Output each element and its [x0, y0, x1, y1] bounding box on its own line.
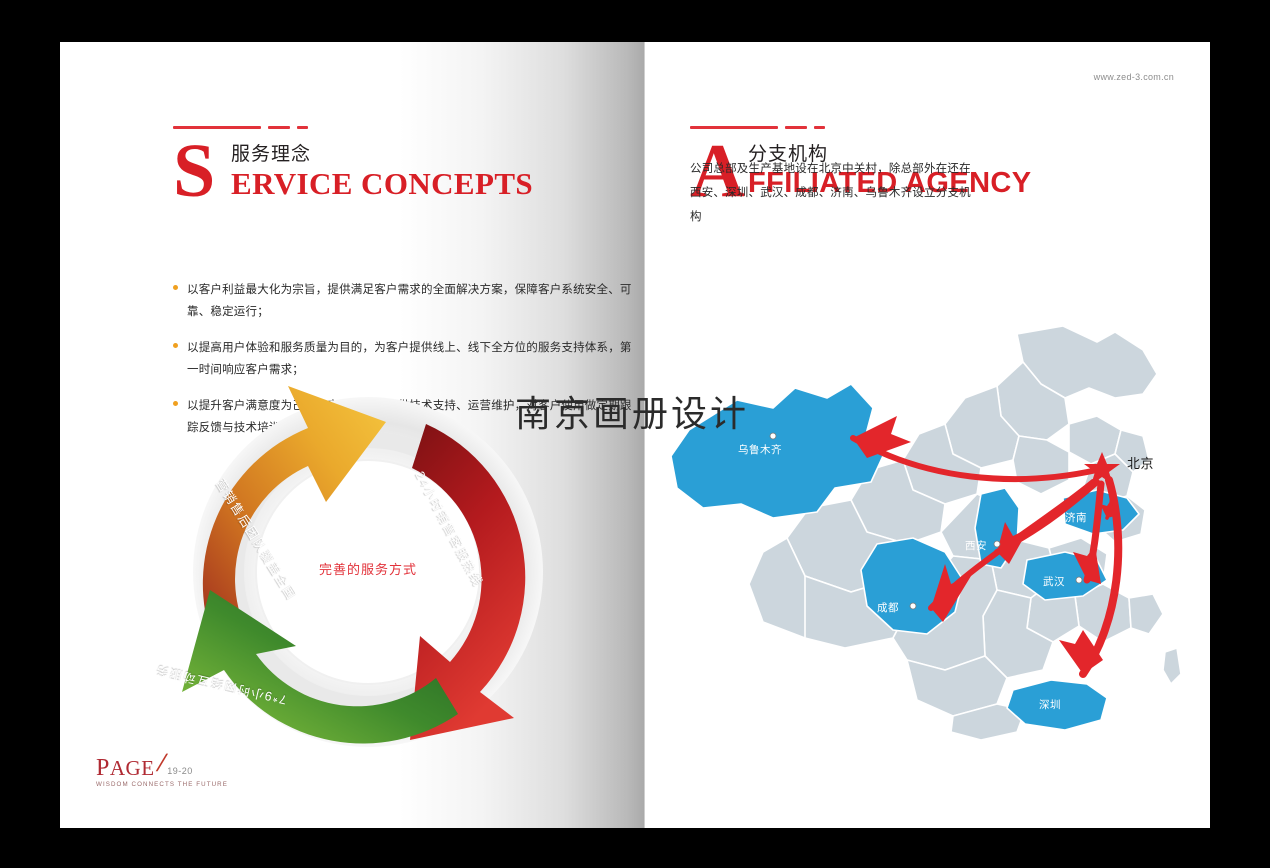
- cycle-center-label: 完善的服务方式: [158, 559, 578, 578]
- service-concepts-heading: S 服务理念 ERVICE CONCEPTS: [173, 126, 533, 200]
- dash-medium-icon: [785, 126, 807, 129]
- map-label-wuhan: 武汉: [1043, 574, 1065, 589]
- footer-tagline: WISDOM CONNECTS THE FUTURE: [96, 781, 228, 788]
- heading-dash-decoration: [173, 126, 533, 129]
- map-label-jinan: 济南: [1065, 510, 1087, 525]
- brochure-spread: S 服务理念 ERVICE CONCEPTS 以客户利益最大化为宗旨，提供满足客…: [60, 42, 1210, 828]
- list-item: 以客户利益最大化为宗旨，提供满足客户需求的全面解决方案，保障客户系统安全、可靠、…: [173, 279, 635, 323]
- bullet-dot-icon: [173, 343, 178, 348]
- watermark-text: 南京画册设计: [515, 385, 749, 437]
- page-word: PAGE: [96, 758, 155, 778]
- heading-en-title: ERVICE CONCEPTS: [231, 167, 533, 200]
- screenshot-stage: S 服务理念 ERVICE CONCEPTS 以客户利益最大化为宗旨，提供满足客…: [0, 0, 1270, 868]
- website-url: www.zed-3.com.cn: [1094, 72, 1174, 82]
- map-label-shenzhen: 深圳: [1039, 697, 1061, 712]
- page-word-cap: P: [96, 755, 110, 781]
- map-label-xian: 西安: [965, 538, 987, 553]
- map-label-urumqi: 乌鲁木齐: [738, 442, 782, 457]
- map-label-beijing: 北京: [1127, 453, 1154, 472]
- dash-short-icon: [814, 126, 825, 129]
- drop-cap-letter: S: [173, 139, 215, 203]
- china-branch-map: 乌鲁木齐 北京 济南 西安 武汉 成都 深圳: [645, 312, 1210, 772]
- bullet-text: 以客户利益最大化为宗旨，提供满足客户需求的全面解决方案，保障客户系统安全、可靠、…: [187, 279, 635, 323]
- dash-medium-icon: [268, 126, 290, 129]
- heading-cn-title: 服务理念: [231, 143, 533, 167]
- bullet-dot-icon: [173, 285, 178, 290]
- page-number: 19-20: [167, 766, 193, 776]
- agency-paragraph: 公司总部及生产基地设在北京中关村，除总部外在还在西安、深圳、武汉、成都、济南、乌…: [690, 157, 980, 229]
- dash-short-icon: [297, 126, 308, 129]
- page-footer: PAGE / 19-20 WISDOM CONNECTS THE FUTURE: [96, 750, 228, 788]
- page-word-rest: AGE: [110, 756, 155, 780]
- map-label-chengdu: 成都: [877, 600, 899, 615]
